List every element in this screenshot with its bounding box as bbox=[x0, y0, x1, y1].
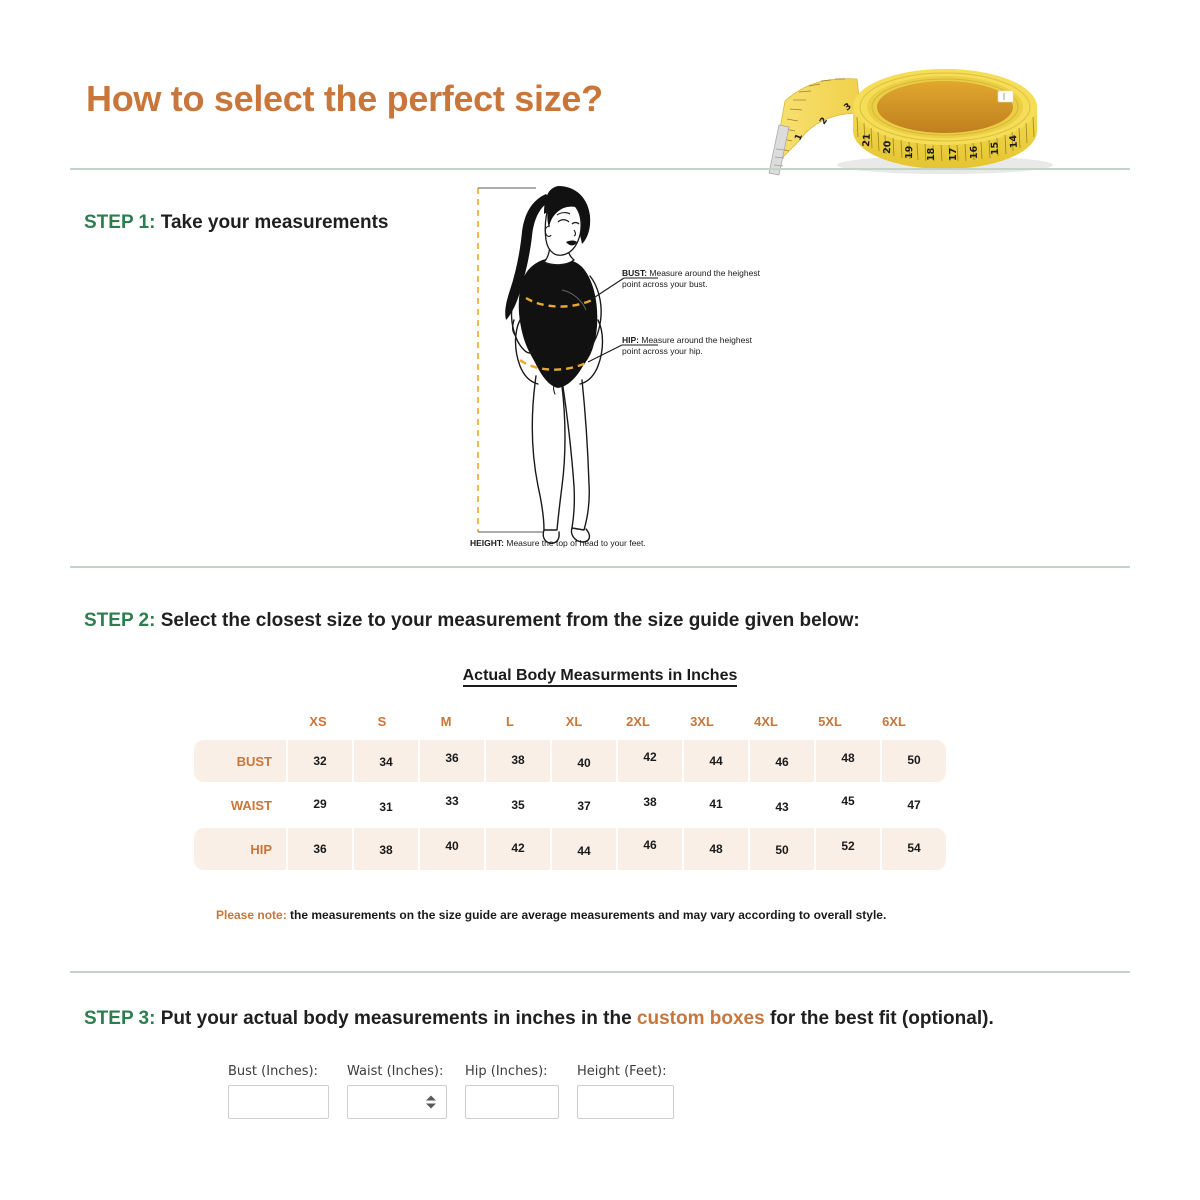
cell-bust-4xl: 46 bbox=[750, 740, 814, 782]
svg-text:15: 15 bbox=[990, 142, 1001, 156]
cell-bust-5xl: 48 bbox=[816, 740, 880, 782]
step-2-label: STEP 2: bbox=[84, 610, 155, 631]
note-lead: Please note: bbox=[216, 908, 287, 922]
cell-bust-m: 36 bbox=[420, 740, 484, 782]
cell-hip-3xl: 48 bbox=[684, 828, 748, 870]
svg-text:16: 16 bbox=[969, 145, 980, 159]
svg-text:17: 17 bbox=[948, 148, 959, 161]
size-column-header-3xl: 3XL bbox=[670, 708, 734, 734]
cell-hip-4xl: 50 bbox=[750, 828, 814, 870]
field-label-waist: Waist (Inches): bbox=[347, 1064, 447, 1079]
field-hip: Hip (Inches): bbox=[465, 1064, 559, 1119]
cell-bust-l: 38 bbox=[486, 740, 550, 782]
page-header: How to select the perfect size? bbox=[0, 0, 1200, 170]
waist-input-wrapper[interactable] bbox=[347, 1085, 447, 1119]
step-3-label: STEP 3: bbox=[84, 1008, 155, 1029]
svg-text:19: 19 bbox=[904, 146, 915, 159]
chevron-up-icon[interactable] bbox=[426, 1096, 436, 1101]
cell-hip-5xl: 52 bbox=[816, 828, 880, 870]
callout-height-text: Measure the top of head to your feet. bbox=[504, 538, 646, 548]
size-table-note: Please note: the measurements on the siz… bbox=[216, 908, 886, 922]
size-column-header-xs: XS bbox=[286, 708, 350, 734]
size-table-corner-cell bbox=[194, 708, 286, 734]
height-input-wrapper[interactable] bbox=[577, 1085, 674, 1119]
cell-hip-2xl: 46 bbox=[618, 828, 682, 870]
size-column-header-2xl: 2XL bbox=[606, 708, 670, 734]
step-1-text: Take your measurements bbox=[161, 212, 389, 233]
svg-text:21: 21 bbox=[861, 133, 873, 147]
field-waist: Waist (Inches): bbox=[347, 1064, 447, 1119]
callout-bust: BUST: Measure around the heighest point … bbox=[622, 268, 772, 291]
callout-bust-lead: BUST: bbox=[622, 268, 647, 278]
step-1-heading: STEP 1: Take your measurements bbox=[84, 212, 389, 234]
size-table-title-text: Actual Body Measurments in Inches bbox=[463, 667, 738, 687]
callout-hip: HIP: Measure around the heighest point a… bbox=[622, 335, 772, 358]
cell-waist-l: 35 bbox=[486, 784, 550, 826]
field-label-bust: Bust (Inches): bbox=[228, 1064, 329, 1079]
field-bust: Bust (Inches): bbox=[228, 1064, 329, 1119]
cell-waist-xl: 37 bbox=[552, 784, 616, 826]
row-label-waist: WAIST bbox=[194, 784, 286, 826]
bust-input[interactable] bbox=[229, 1086, 328, 1118]
cell-bust-3xl: 44 bbox=[684, 740, 748, 782]
field-height: Height (Feet): bbox=[577, 1064, 674, 1119]
callout-height-lead: HEIGHT: bbox=[470, 538, 504, 548]
custom-measurement-inputs: Bust (Inches):Waist (Inches):Hip (Inches… bbox=[228, 1064, 674, 1119]
section-divider-2 bbox=[70, 566, 1130, 568]
cell-bust-6xl: 50 bbox=[882, 740, 946, 782]
section-divider-1 bbox=[70, 168, 1130, 170]
body-measurement-figure: BUST: Measure around the heighest point … bbox=[462, 180, 782, 560]
size-column-header-5xl: 5XL bbox=[798, 708, 862, 734]
table-row: WAIST29313335373841434547 bbox=[194, 784, 966, 826]
cell-hip-6xl: 54 bbox=[882, 828, 946, 870]
cell-hip-l: 42 bbox=[486, 828, 550, 870]
callout-height: HEIGHT: Measure the top of head to your … bbox=[470, 538, 720, 549]
cell-bust-s: 34 bbox=[354, 740, 418, 782]
chevron-down-icon[interactable] bbox=[426, 1104, 436, 1109]
size-table-header-row: XSSMLXL2XL3XL4XL5XL6XL bbox=[194, 708, 966, 734]
size-table-title: Actual Body Measurments in Inches bbox=[0, 667, 1200, 685]
cell-hip-xl: 44 bbox=[552, 828, 616, 870]
field-label-hip: Hip (Inches): bbox=[465, 1064, 559, 1079]
svg-text:18: 18 bbox=[926, 147, 937, 161]
step-2-text: Select the closest size to your measurem… bbox=[161, 610, 860, 631]
waist-stepper[interactable] bbox=[426, 1096, 436, 1109]
cell-waist-xs: 29 bbox=[288, 784, 352, 826]
cell-bust-xs: 32 bbox=[288, 740, 352, 782]
row-label-hip: HIP bbox=[194, 828, 286, 870]
size-chart-table: XSSMLXL2XL3XL4XL5XL6XLBUST32343638404244… bbox=[194, 708, 966, 872]
callout-hip-text: Measure around the heighest point across… bbox=[622, 335, 752, 356]
step-3-text-after: for the best fit (optional). bbox=[765, 1008, 994, 1029]
step-1-label: STEP 1: bbox=[84, 212, 155, 233]
step-2-heading: STEP 2: Select the closest size to your … bbox=[84, 610, 860, 632]
cell-waist-5xl: 45 bbox=[816, 784, 880, 826]
cell-bust-xl: 40 bbox=[552, 740, 616, 782]
size-column-header-l: L bbox=[478, 708, 542, 734]
height-input[interactable] bbox=[578, 1086, 673, 1118]
size-column-header-6xl: 6XL bbox=[862, 708, 926, 734]
size-column-header-xl: XL bbox=[542, 708, 606, 734]
page-title: How to select the perfect size? bbox=[86, 78, 603, 120]
size-column-header-s: S bbox=[350, 708, 414, 734]
section-divider-3 bbox=[70, 971, 1130, 973]
size-column-header-m: M bbox=[414, 708, 478, 734]
svg-text:14: 14 bbox=[1008, 134, 1020, 148]
table-row: HIP36384042444648505254 bbox=[194, 828, 966, 870]
step-3-heading: STEP 3: Put your actual body measurement… bbox=[84, 1008, 994, 1030]
svg-text:20: 20 bbox=[882, 140, 893, 154]
cell-hip-s: 38 bbox=[354, 828, 418, 870]
field-label-height: Height (Feet): bbox=[577, 1064, 674, 1079]
cell-waist-2xl: 38 bbox=[618, 784, 682, 826]
size-column-header-4xl: 4XL bbox=[734, 708, 798, 734]
note-text: the measurements on the size guide are a… bbox=[287, 908, 887, 922]
callout-hip-lead: HIP: bbox=[622, 335, 639, 345]
cell-hip-m: 40 bbox=[420, 828, 484, 870]
cell-waist-6xl: 47 bbox=[882, 784, 946, 826]
hip-input-wrapper[interactable] bbox=[465, 1085, 559, 1119]
table-row: BUST32343638404244464850 bbox=[194, 740, 966, 782]
bust-input-wrapper[interactable] bbox=[228, 1085, 329, 1119]
cell-waist-4xl: 43 bbox=[750, 784, 814, 826]
measuring-tape-icon: 1 2 3 bbox=[765, 55, 1065, 180]
hip-input[interactable] bbox=[466, 1086, 558, 1118]
cell-hip-xs: 36 bbox=[288, 828, 352, 870]
step-3-text-before: Put your actual body measurements in inc… bbox=[155, 1008, 636, 1029]
cell-bust-2xl: 42 bbox=[618, 740, 682, 782]
step-3-accent: custom boxes bbox=[637, 1008, 765, 1029]
cell-waist-s: 31 bbox=[354, 784, 418, 826]
cell-waist-m: 33 bbox=[420, 784, 484, 826]
cell-waist-3xl: 41 bbox=[684, 784, 748, 826]
row-label-bust: BUST bbox=[194, 740, 286, 782]
